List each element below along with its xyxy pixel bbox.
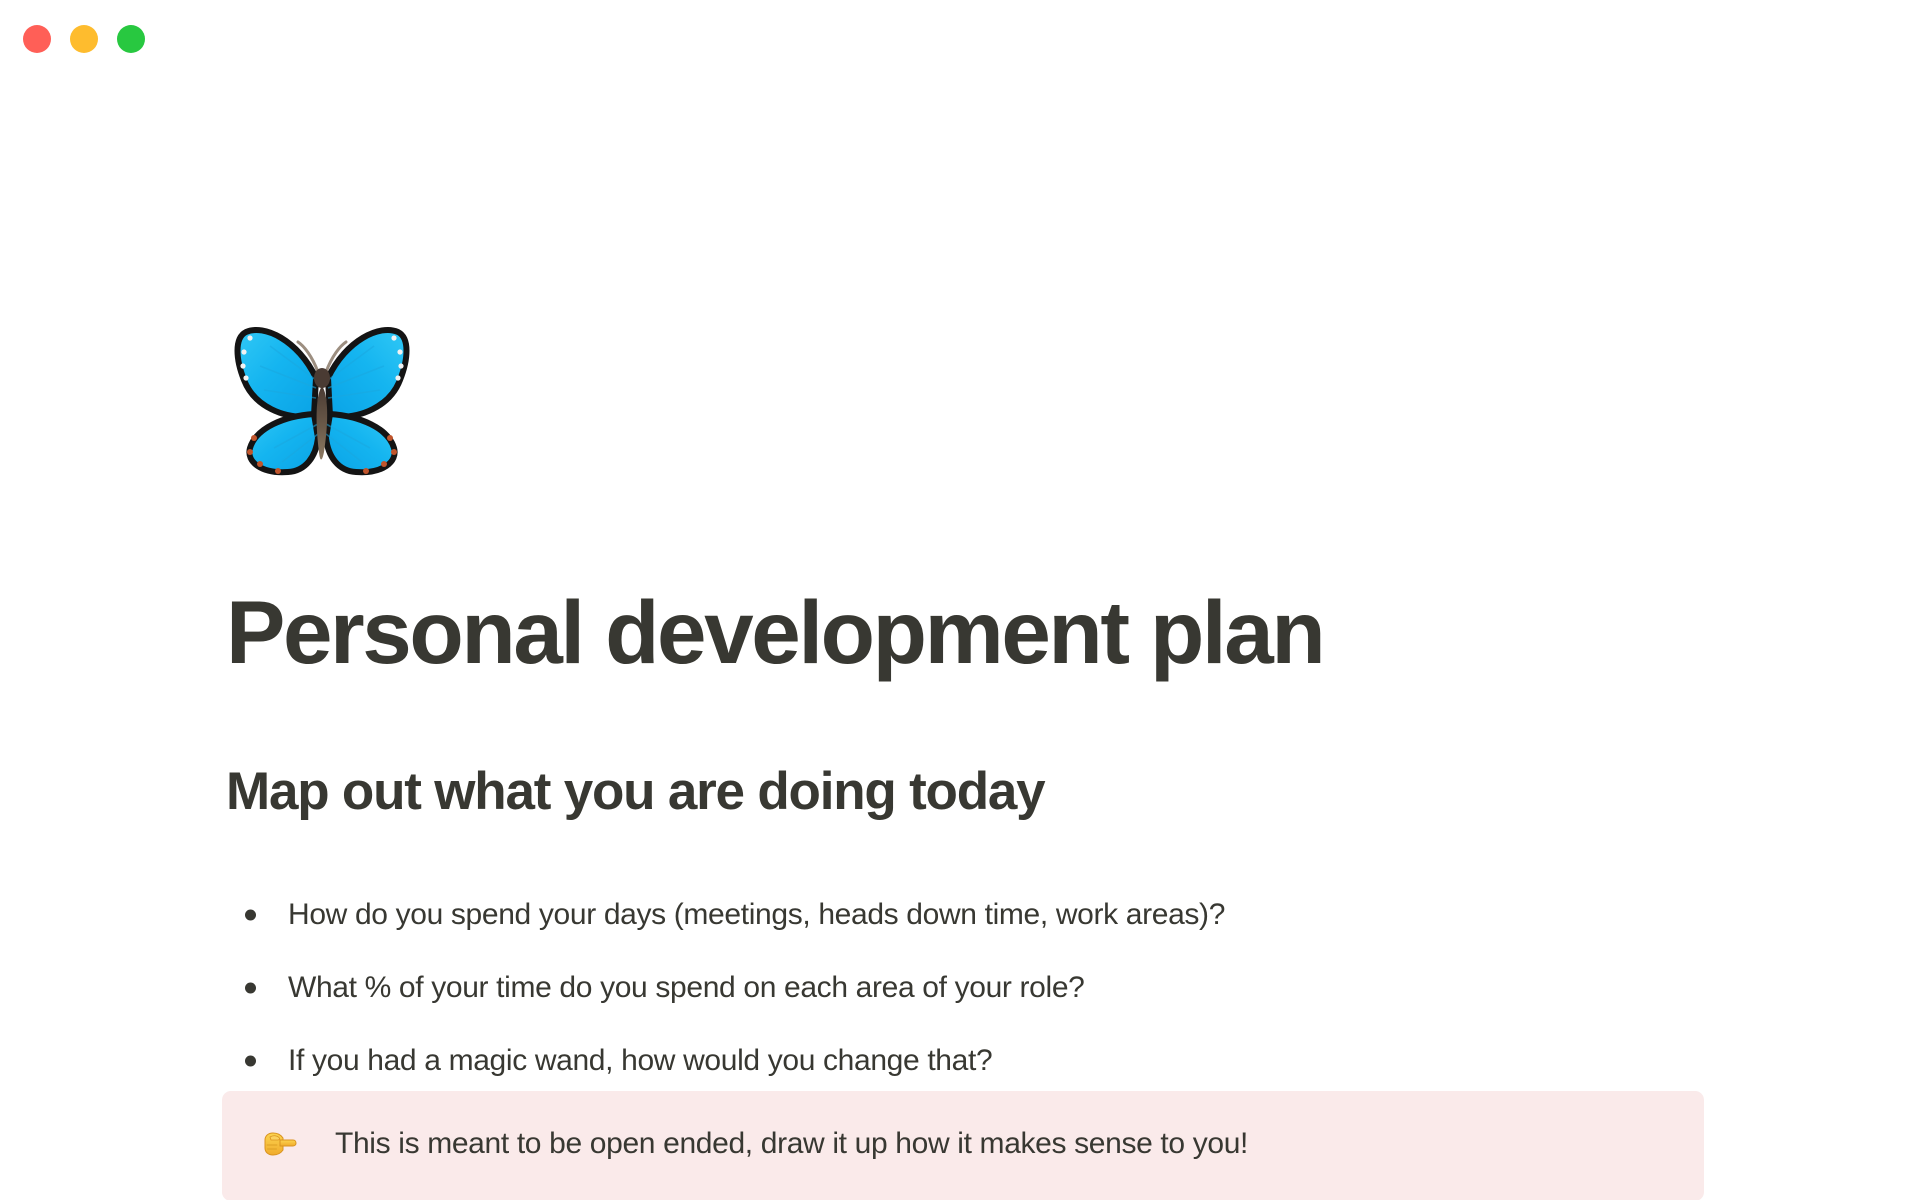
minimize-window-button[interactable] <box>70 25 98 53</box>
maximize-window-button[interactable] <box>117 25 145 53</box>
list-item[interactable]: What % of your time do you spend on each… <box>226 951 1706 1024</box>
window-title-bar <box>0 0 1920 78</box>
list-item-label: What % of your time do you spend on each… <box>288 966 1084 1010</box>
close-window-button[interactable] <box>23 25 51 53</box>
callout-text: This is meant to be open ended, draw it … <box>335 1122 1248 1166</box>
bullet-list: How do you spend your days (meetings, he… <box>226 878 1706 1097</box>
butterfly-icon[interactable] <box>226 316 418 484</box>
section-heading: Map out what you are doing today <box>226 760 1044 824</box>
list-item[interactable]: How do you spend your days (meetings, he… <box>226 878 1706 951</box>
traffic-light-controls <box>23 25 145 53</box>
list-item-label: How do you spend your days (meetings, he… <box>288 893 1225 937</box>
list-item-label: If you had a magic wand, how would you c… <box>288 1039 992 1083</box>
callout-block[interactable]: This is meant to be open ended, draw it … <box>222 1091 1704 1200</box>
bullet-dot-icon <box>245 982 256 993</box>
list-item[interactable]: If you had a magic wand, how would you c… <box>226 1024 1706 1097</box>
pointing-right-icon <box>258 1124 298 1164</box>
bullet-dot-icon <box>245 1055 256 1066</box>
document-canvas: Personal development plan Map out what y… <box>0 78 1920 1200</box>
page-title: Personal development plan <box>226 583 1323 683</box>
bullet-dot-icon <box>245 909 256 920</box>
